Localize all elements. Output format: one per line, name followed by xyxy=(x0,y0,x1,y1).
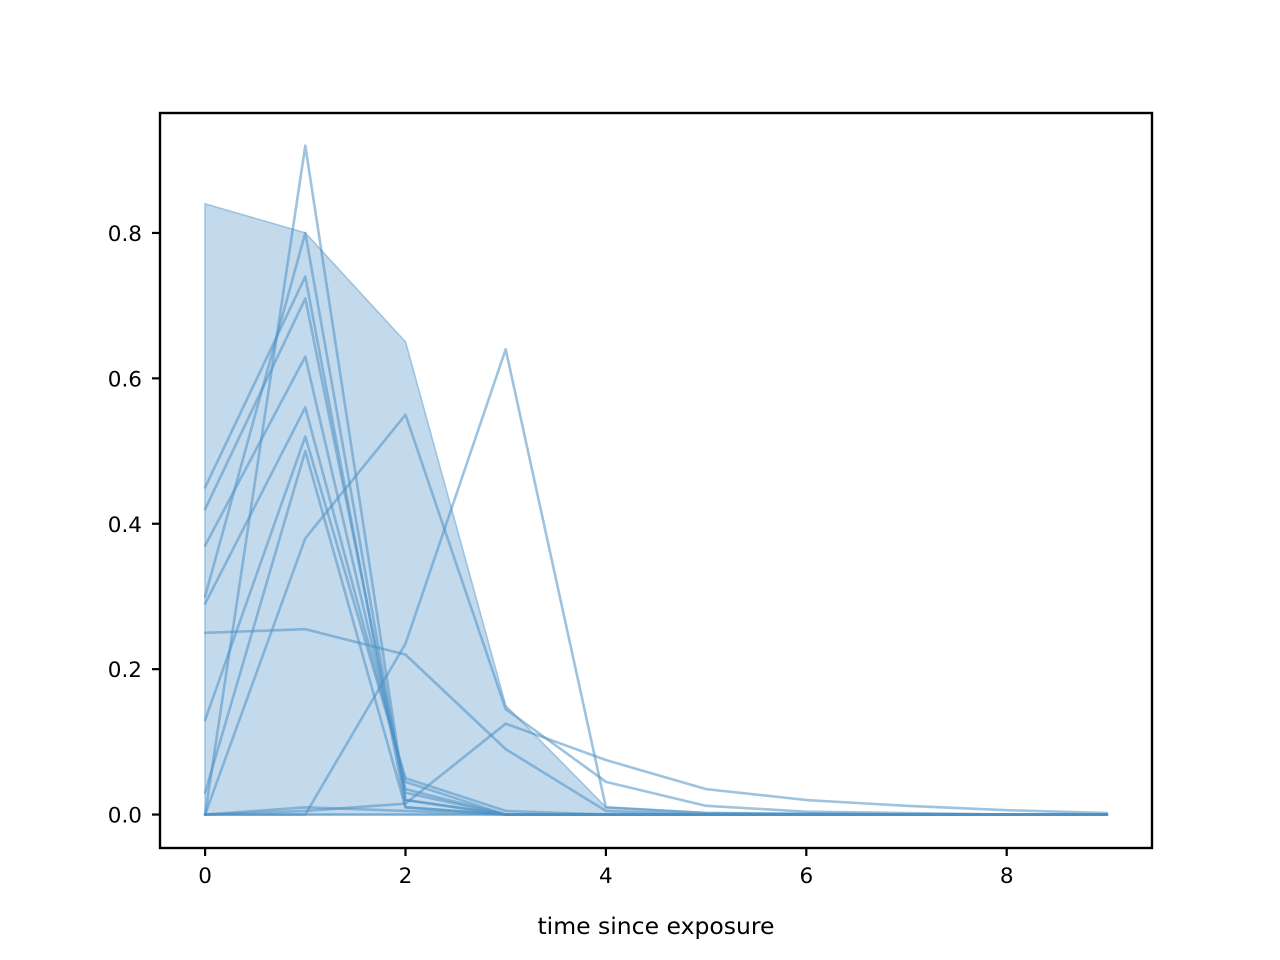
y-tick-label: 0.6 xyxy=(108,367,142,392)
line-chart: 02468 0.00.20.40.60.8 time since exposur… xyxy=(0,0,1280,960)
x-tick-label: 6 xyxy=(799,864,813,889)
y-tick-label: 0.0 xyxy=(108,804,142,829)
y-tick-label: 0.8 xyxy=(108,222,142,247)
x-tick-label: 0 xyxy=(198,864,212,889)
x-axis-label: time since exposure xyxy=(537,912,774,940)
x-tick-label: 4 xyxy=(599,864,613,889)
y-tick-label: 0.4 xyxy=(108,513,142,538)
matplotlib-figure: 02468 0.00.20.40.60.8 time since exposur… xyxy=(0,0,1280,960)
x-tick-label: 2 xyxy=(399,864,413,889)
y-tick-label: 0.2 xyxy=(108,658,142,683)
y-axis-ticks: 0.00.20.40.60.8 xyxy=(108,222,160,829)
x-tick-label: 8 xyxy=(1000,864,1014,889)
x-axis-ticks: 02468 xyxy=(198,848,1013,889)
